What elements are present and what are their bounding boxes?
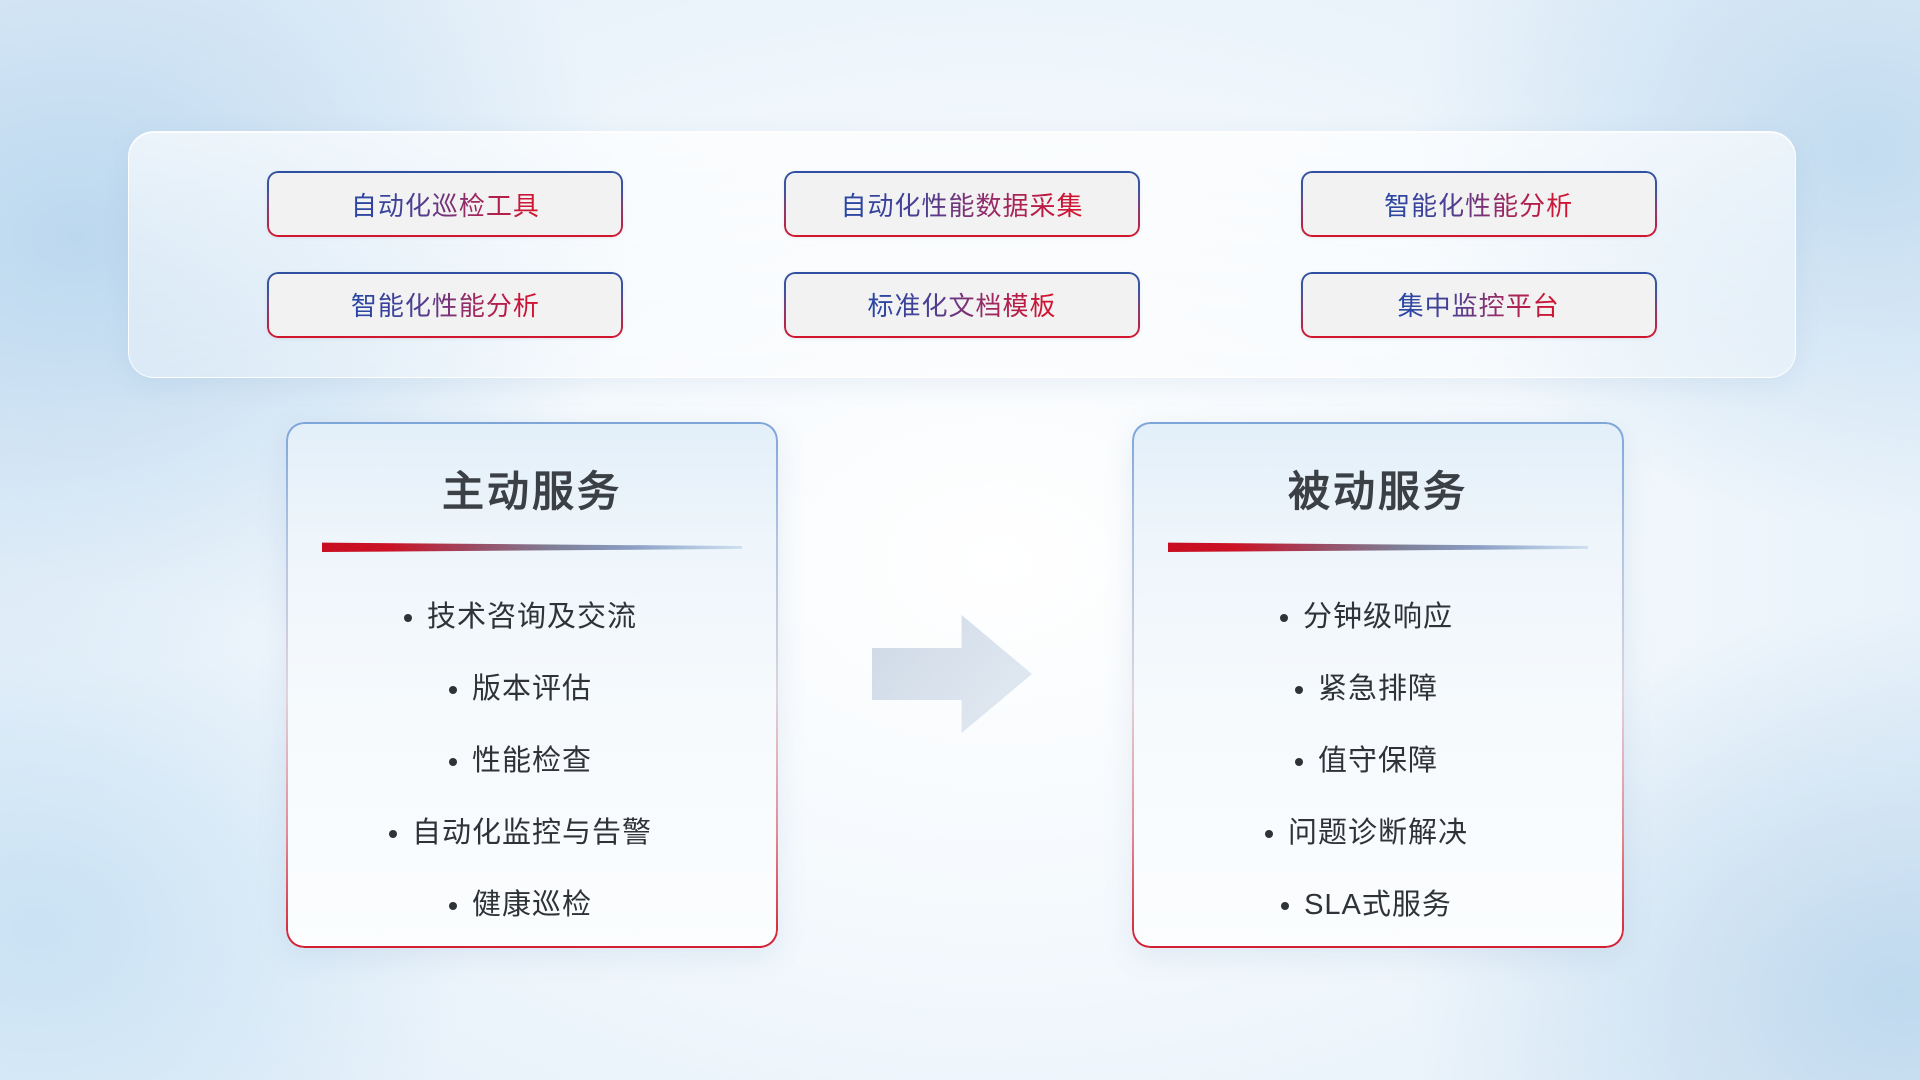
capability-pill-2[interactable]: 自动化性能数据采集 <box>784 171 1140 237</box>
slide-canvas: 自动化巡检工具 自动化性能数据采集 智能化性能分析 智能化性能分析 标准化文档模… <box>0 0 1920 1080</box>
service-card-title: 被动服务 <box>1132 458 1624 519</box>
service-item-list: 技术咨询及交流 版本评估 性能检查 自动化监控与告警 健康巡检 <box>286 581 778 941</box>
title-divider <box>322 541 742 553</box>
list-item: 自动化监控与告警 <box>412 797 652 869</box>
capability-pill-label: 自动化性能数据采集 <box>840 186 1083 223</box>
capability-pill-4[interactable]: 智能化性能分析 <box>267 272 623 338</box>
capability-pill-grid: 自动化巡检工具 自动化性能数据采集 智能化性能分析 智能化性能分析 标准化文档模… <box>129 132 1795 377</box>
capability-pill-1[interactable]: 自动化巡检工具 <box>267 171 623 237</box>
list-item: 性能检查 <box>472 725 592 797</box>
title-divider-bar <box>322 541 742 553</box>
list-item: 问题诊断解决 <box>1288 797 1468 869</box>
capability-pill-5[interactable]: 标准化文档模板 <box>784 272 1140 338</box>
list-item: 紧急排障 <box>1318 653 1438 725</box>
capability-pill-3[interactable]: 智能化性能分析 <box>1301 171 1657 237</box>
list-item: 版本评估 <box>472 653 592 725</box>
capability-pill-label: 集中监控平台 <box>1398 286 1560 323</box>
capability-pill-label: 智能化性能分析 <box>351 286 540 323</box>
arrow-right-icon <box>872 615 1032 733</box>
list-item: 技术咨询及交流 <box>427 581 637 653</box>
capability-panel: 自动化巡检工具 自动化性能数据采集 智能化性能分析 智能化性能分析 标准化文档模… <box>128 131 1796 378</box>
list-item: 健康巡检 <box>472 869 592 941</box>
list-item: 值守保障 <box>1318 725 1438 797</box>
capability-pill-label: 智能化性能分析 <box>1384 186 1573 223</box>
title-divider <box>1168 541 1588 553</box>
capability-pill-6[interactable]: 集中监控平台 <box>1301 272 1657 338</box>
list-item: 分钟级响应 <box>1303 581 1453 653</box>
capability-pill-label: 标准化文档模板 <box>867 286 1056 323</box>
service-card-proactive[interactable]: 主动服务 技术咨询及交流 版本评估 性能检查 自动化监控与告警 健康巡检 <box>286 422 778 948</box>
service-card-title: 主动服务 <box>286 458 778 519</box>
service-item-list: 分钟级响应 紧急排障 值守保障 问题诊断解决 SLA式服务 <box>1132 581 1624 941</box>
title-divider-bar <box>1168 541 1588 553</box>
capability-pill-label: 自动化巡检工具 <box>351 186 540 223</box>
list-item: SLA式服务 <box>1304 869 1452 941</box>
service-card-reactive[interactable]: 被动服务 分钟级响应 紧急排障 值守保障 问题诊断解决 SLA式服务 <box>1132 422 1624 948</box>
